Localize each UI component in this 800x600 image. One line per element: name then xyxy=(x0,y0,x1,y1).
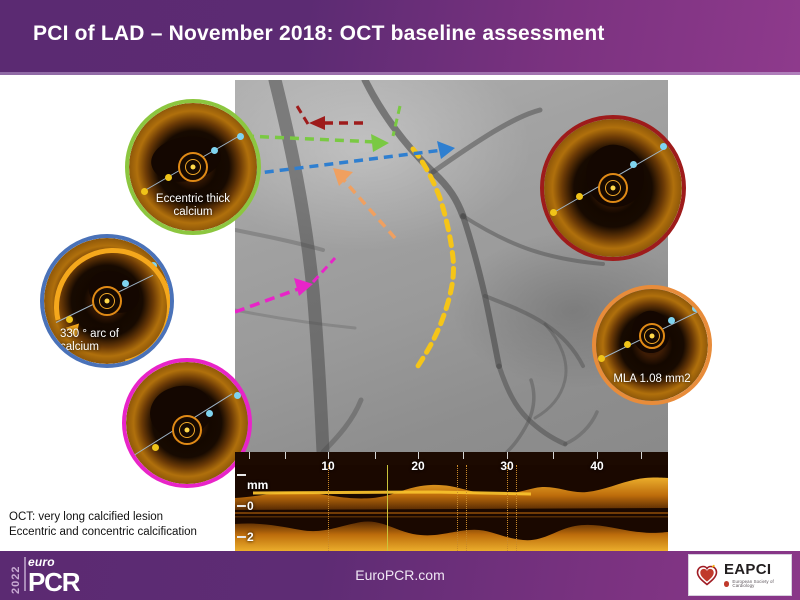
oct-catheter-core xyxy=(105,299,110,304)
oct-frame-mla[interactable]: MLA 1.08 mm2 xyxy=(592,285,712,405)
oct-catheter-core xyxy=(191,165,196,170)
oct-frame-distal[interactable] xyxy=(122,358,252,488)
ruler-tick xyxy=(375,452,376,459)
heart-icon xyxy=(695,563,719,587)
caption-line-2: Eccentric and concentric calcification xyxy=(9,525,197,540)
arrow-orange xyxy=(333,168,395,238)
oct-frame-eccentric-thick-calcium[interactable]: Eccentric thick calcium xyxy=(125,99,261,235)
measure-dot xyxy=(576,193,583,200)
slide-caption: OCT: very long calcified lesion Eccentri… xyxy=(9,510,197,540)
footer-website[interactable]: EuroPCR.com xyxy=(0,567,800,583)
ruler-label: 40 xyxy=(590,459,603,473)
arrow-darkred xyxy=(297,106,363,130)
lmode-guide-dotted xyxy=(507,465,508,551)
eapci-name: EAPCI xyxy=(724,562,791,577)
oct-catheter-core xyxy=(650,334,655,339)
measure-dot xyxy=(624,341,631,348)
measure-dot xyxy=(165,174,172,181)
depth-tick xyxy=(237,474,246,476)
measure-dot xyxy=(598,355,605,362)
measure-dot xyxy=(237,133,244,140)
eapci-text-block: EAPCI European Society of Cardiology xyxy=(724,562,791,589)
lmode-guide-current xyxy=(387,465,388,551)
measure-dot xyxy=(206,410,213,417)
arrow-green xyxy=(245,106,400,152)
measure-dot xyxy=(660,143,667,150)
page-title: PCI of LAD – November 2018: OCT baseline… xyxy=(33,22,605,46)
ruler-label: 20 xyxy=(411,459,424,473)
measure-dot xyxy=(152,444,159,451)
ruler-tick xyxy=(285,452,286,459)
ruler-tick xyxy=(418,452,419,459)
oct-catheter-core xyxy=(611,186,616,191)
measure-dot xyxy=(550,209,557,216)
lmode-guide-dotted xyxy=(328,465,329,551)
oct-frame-label: Eccentric thick calcium xyxy=(129,193,257,219)
ruler-tick xyxy=(463,452,464,459)
ruler-tick xyxy=(553,452,554,459)
lmode-guide-dotted xyxy=(457,465,458,551)
depth-label: 2 xyxy=(247,530,254,544)
ruler-tick xyxy=(249,452,250,459)
slide-canvas: PCI of LAD – November 2018: OCT baseline… xyxy=(0,0,800,600)
lmode-guide-dotted xyxy=(466,465,467,551)
measure-dot xyxy=(234,392,241,399)
depth-label: 0 xyxy=(247,499,254,513)
ruler-tick xyxy=(328,452,329,459)
measure-dot xyxy=(692,305,699,312)
oct-frame-label: 330 ° arc of calcium xyxy=(44,328,170,354)
depth-unit-label: mm xyxy=(247,478,268,492)
caption-line-1: OCT: very long calcified lesion xyxy=(9,510,197,525)
oct-frame-proximal[interactable] xyxy=(540,115,686,261)
eapci-logo[interactable]: EAPCI European Society of Cardiology xyxy=(688,554,792,596)
oct-frame-label: MLA 1.08 mm2 xyxy=(596,373,708,386)
oct-catheter-core xyxy=(185,428,190,433)
oct-frame-arc-of-calcium[interactable]: 330 ° arc of calcium xyxy=(40,234,174,368)
measure-dot xyxy=(211,147,218,154)
depth-tick xyxy=(237,505,246,507)
depth-tick xyxy=(237,536,246,538)
esc-dot-icon xyxy=(724,581,729,587)
header-accent-rule xyxy=(0,72,800,75)
ruler-tick xyxy=(641,452,642,459)
ruler-tick xyxy=(507,452,508,459)
arrow-magenta xyxy=(235,258,335,312)
ruler-tick xyxy=(597,452,598,459)
arrow-yellow-lad-path xyxy=(413,149,454,366)
measure-dot xyxy=(668,317,675,324)
measure-dot xyxy=(630,161,637,168)
oct-longitudinal-pullback[interactable]: 10 20 30 40 mm 0 2 xyxy=(235,452,668,553)
eapci-subtitle: European Society of Cardiology xyxy=(732,580,791,589)
lmode-guide-dotted xyxy=(516,465,517,551)
